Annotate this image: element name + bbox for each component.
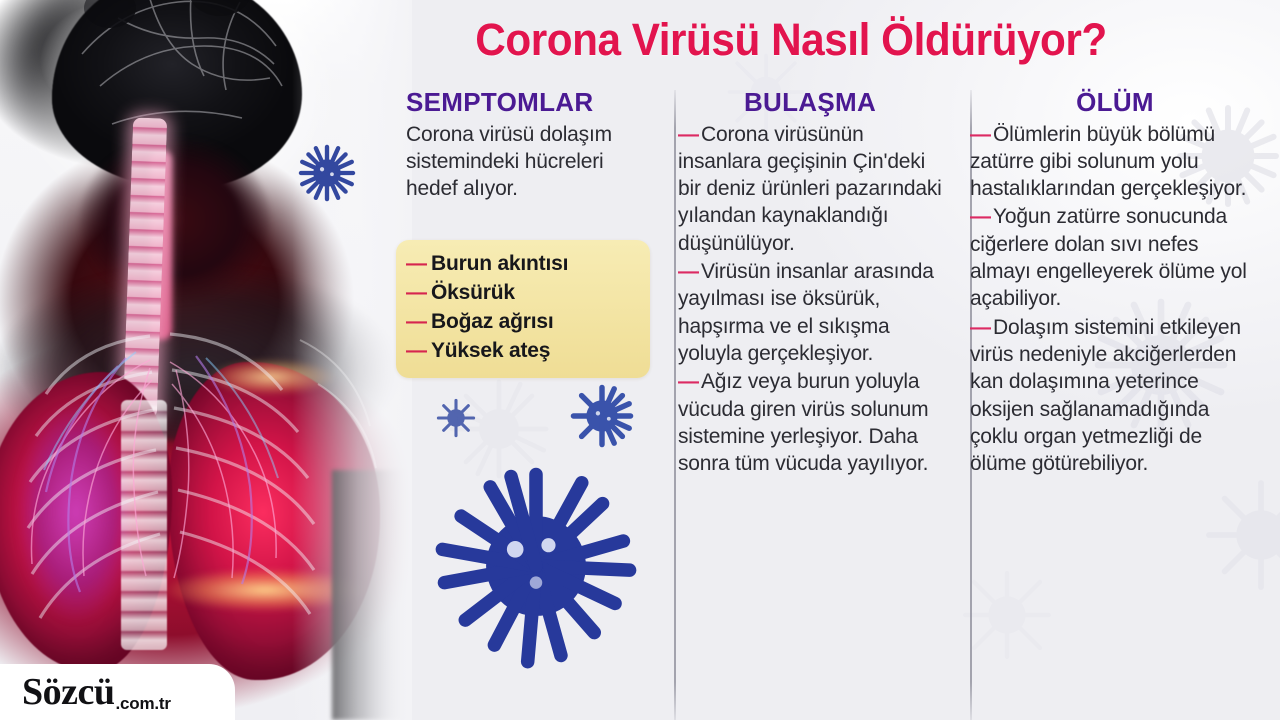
dash-marker: — (678, 370, 699, 393)
symptom-list-item: —Yüksek ateş (406, 337, 642, 366)
transmission-paragraph: —Virüsün insanlar arasında yayılması ise… (678, 258, 942, 367)
paragraph-text: Corona virüsünün insanlara geçişinin Çin… (678, 123, 942, 255)
symptom-list-item: —Burun akıntısı (406, 250, 642, 279)
symptom-list-item: —Boğaz ağrısı (406, 308, 642, 337)
symptom-label: Boğaz ağrısı (431, 310, 553, 333)
column-heading-death: ÖLÜM (970, 88, 1260, 117)
transmission-paragraph: —Corona virüsünün insanlara geçişinin Çi… (678, 121, 942, 257)
page-title: Corona Virüsü Nasıl Öldürüyor? (346, 16, 1235, 63)
death-paragraph: —Dolaşım sistemini etkileyen virüs neden… (970, 314, 1260, 478)
paragraph-text: Ağız veya burun yoluyla vücuda giren vir… (678, 370, 928, 475)
dash-marker: — (970, 123, 991, 146)
content-columns: SEMPTOMLAR Corona virüsü dolaşım sistemi… (396, 88, 1280, 720)
dash-marker: — (678, 123, 699, 146)
symptom-list-card: —Burun akıntısı —Öksürük —Boğaz ağrısı —… (396, 240, 650, 378)
dash-marker: — (406, 252, 427, 275)
paragraph-text: Yoğun zatürre sonucunda ciğerlere dolan … (970, 205, 1247, 310)
logo-wordmark: Sözcü (22, 673, 115, 711)
symptom-label: Yüksek ateş (431, 339, 550, 362)
symptoms-intro-text: Corona virüsü dolaşım sistemindeki hücre… (406, 121, 648, 203)
transmission-paragraph: —Ağız veya burun yoluyla vücuda giren vi… (678, 368, 942, 477)
death-paragraph: —Yoğun zatürre sonucunda ciğerlere dolan… (970, 203, 1260, 312)
paragraph-text: Dolaşım sistemini etkileyen virüs nedeni… (970, 316, 1241, 475)
dash-marker: — (406, 310, 427, 333)
symptom-label: Burun akıntısı (431, 252, 568, 275)
sozcu-logo[interactable]: Sözcü .com.tr (0, 664, 235, 720)
dash-marker: — (970, 205, 991, 228)
virus-particle-medium (296, 142, 358, 209)
symptom-list-item: —Öksürük (406, 279, 642, 308)
death-paragraph: —Ölümlerin büyük bölümü zatürre gibi sol… (970, 121, 1260, 203)
column-heading-transmission: BULAŞMA (678, 88, 942, 117)
dash-marker: — (406, 281, 427, 304)
column-symptoms: SEMPTOMLAR Corona virüsü dolaşım sistemi… (396, 88, 664, 720)
symptom-label: Öksürük (431, 281, 515, 304)
column-death: ÖLÜM —Ölümlerin büyük bölümü zatürre gib… (954, 88, 1260, 720)
paragraph-text: Virüsün insanlar arasında yayılması ise … (678, 260, 934, 365)
dash-marker: — (678, 260, 699, 283)
dash-marker: — (406, 339, 427, 362)
paragraph-text: Ölümlerin büyük bölümü zatürre gibi solu… (970, 123, 1246, 201)
logo-domain-suffix: .com.tr (116, 694, 171, 720)
column-transmission: BULAŞMA —Corona virüsünün insanlara geçi… (664, 88, 954, 720)
dash-marker: — (970, 316, 991, 339)
column-heading-symptoms: SEMPTOMLAR (396, 88, 648, 117)
human-anatomy-illustration (0, 0, 412, 720)
infographic-canvas: Corona Virüsü Nasıl Öldürüyor? SEMPTOMLA… (0, 0, 1280, 720)
